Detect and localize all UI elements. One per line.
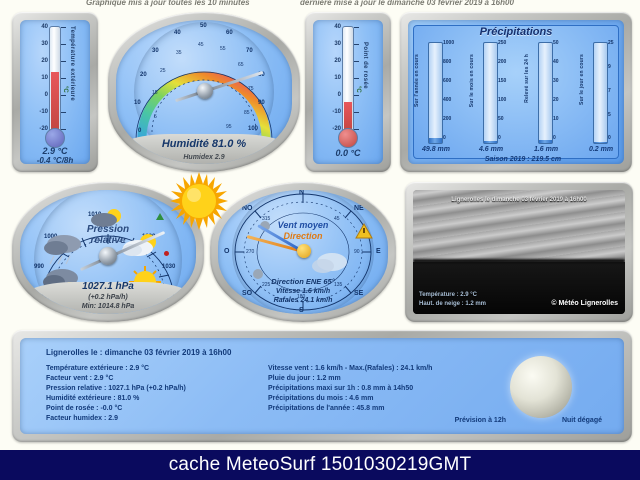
webcam-panel[interactable]: Lignerolles le dimanche 03 février 2019 … [405, 182, 633, 322]
dew-tick-5: -10 [332, 109, 341, 115]
temp-tick-6: -20 [39, 126, 48, 132]
temp-tick-1: 30 [41, 41, 48, 47]
cloud-icon-wind [312, 253, 347, 273]
thermometer-bulb [45, 128, 65, 148]
precip-bar-year-caption: Sur l'année en cours [414, 54, 420, 107]
wind-direction-value: Direction ENE 65° [218, 277, 388, 286]
pressure-min: Min: 1014.8 hPa [20, 303, 196, 310]
temperature-unit-marker: °C [62, 86, 68, 93]
humidity-value: Humidité 81.0 % [116, 138, 292, 150]
temperature-min: -0.4 °C/8h [20, 156, 90, 164]
summary-left-4: Point de rosée : -0.0 °C [46, 405, 122, 412]
temp-tick-0: 40 [41, 24, 48, 30]
precip-bar-day-fill [594, 142, 607, 143]
humidity-humidex: Humidex 2.9 [116, 154, 292, 161]
summary-face: Lignerolles le : dimanche 03 février 201… [20, 338, 624, 434]
thermometer-tube [49, 26, 61, 136]
pressure-value: 1027.1 hPa [20, 281, 196, 292]
dew-tick-1: 30 [334, 41, 341, 47]
precip-bar-month-caption: Sur le mois en cours [469, 54, 475, 107]
forecast-label: Prévision à 12h [455, 417, 506, 424]
warning-triangle-icon [356, 224, 372, 238]
temperature-label: Température extérieure [69, 26, 75, 101]
humidity-hub [197, 83, 213, 99]
dewpoint-unit-marker: °C [355, 86, 361, 93]
pressure-title-2: relative [20, 235, 196, 246]
sun-icon [170, 172, 228, 230]
summary-left-2: Pression relative : 1027.1 hPa (+0.2 hPa… [46, 385, 186, 392]
summary-right-4: Précipitations de l'année : 45.8 mm [268, 405, 384, 412]
precip-year-value: 49.8 mm [412, 146, 460, 153]
precip-bar-24h-fill [539, 140, 552, 143]
precipitation-title: Précipitations [408, 26, 624, 38]
webcam-image: Lignerolles le dimanche 03 février 2019 … [413, 190, 625, 314]
temp-tick-3: 10 [41, 75, 48, 81]
summary-left-3: Humidité extérieure : 81.0 % [46, 395, 139, 402]
dewpoint-face: 40 30 20 10 0 -10 -20 Point de rosée °C … [313, 20, 383, 164]
trend-up-icon [156, 213, 164, 220]
pressure-hub [99, 247, 117, 265]
humidity-face-bg: 0 10 20 30 40 50 60 70 80 90 100 5 15 25… [116, 20, 292, 164]
summary-left-1: Facteur vent : 2.9 °C [46, 375, 113, 382]
dew-tick-4: 0 [338, 92, 341, 98]
temp-tick-5: -10 [39, 109, 48, 115]
forecast-text: Nuit dégagé [562, 417, 602, 424]
wind-gust-value: Rafales 24.1 km/h [218, 297, 388, 304]
temperature-face: 40 30 20 10 0 -10 -20 Température extéri… [20, 20, 90, 164]
precip-bar-month-fill [484, 141, 497, 143]
caption-text: cache MeteoSurf 1501030219GMT [169, 454, 472, 476]
webcam-horizon [413, 259, 625, 263]
summary-left-0: Température extérieure : 2.9 °C [46, 365, 149, 372]
moon-icon [510, 356, 572, 418]
precip-bar-24h-caption: Relevé sur les 24 h [524, 54, 530, 103]
header-left-text: Graphique mis à jour toutes les 10 minut… [86, 0, 250, 7]
pressure-setpoint-marker [164, 251, 169, 256]
precipitation-face: Précipitations Sur l'année en cours 1000… [408, 20, 624, 164]
summary-right-2: Précipitations maxi sur 1h : 0.8 mm à 14… [268, 385, 413, 392]
wind-panel[interactable]: N NE E SE S SO O NO 45 90 135 180 225 27… [210, 182, 396, 322]
wind-speed-value: Vitesse 1.6 km/h [218, 288, 388, 295]
dew-tick-0: 40 [334, 24, 341, 30]
dewpoint-label: Point de rosée [362, 42, 368, 89]
humidity-panel[interactable]: 0 10 20 30 40 50 60 70 80 90 100 5 15 25… [108, 12, 300, 172]
temp-tick-2: 20 [41, 58, 48, 64]
precip-bar-day-caption: Sur le jour en cours [579, 54, 585, 105]
caption-bar: cache MeteoSurf 1501030219GMT [0, 450, 640, 480]
temp-tick-4: 0 [45, 92, 48, 98]
webcam-watermark: © Météo Lignerolles [551, 300, 618, 307]
precip-season-total: Saison 2019 : 219.5 cm [453, 156, 593, 163]
summary-right-0: Vitesse vent : 1.6 km/h - Max.(Rafales) … [268, 365, 432, 372]
temperature-value: 2.9 °C [20, 146, 90, 156]
pressure-trend: (+0.2 hPa/h) [20, 294, 196, 301]
precip-bar-year-fill [429, 138, 442, 143]
wind-face-bg: N NE E SE S SO O NO 45 90 135 180 225 27… [218, 190, 388, 314]
precip-day-value: 0.2 mm [577, 146, 624, 153]
precip-month-value: 4.6 mm [467, 146, 515, 153]
webcam-snow-height: Haut. de neige : 1.2 mm [419, 301, 486, 307]
dewpoint-bulb [338, 128, 358, 148]
webcam-temperature: Température : 2.9 °C [419, 292, 477, 298]
webcam-title: Lignerolles le dimanche 03 février 2019 … [451, 197, 586, 203]
summary-left-5: Facteur humidex : 2.9 [46, 415, 118, 422]
precipitation-panel[interactable]: Précipitations Sur l'année en cours 1000… [400, 12, 632, 172]
thermometer-mercury [51, 72, 59, 135]
summary-right-1: Pluie du jour : 1.2 mm [268, 375, 341, 382]
wind-hub [297, 244, 311, 258]
header-right-text: dernière mise à jour le dimanche 03 févr… [300, 0, 514, 7]
summary-panel[interactable]: Lignerolles le : dimanche 03 février 201… [12, 330, 632, 442]
dew-tick-2: 20 [334, 58, 341, 64]
dewpoint-value: 0.0 °C [313, 148, 383, 158]
precip-24h-value: 1.6 mm [522, 146, 570, 153]
temperature-panel[interactable]: 40 30 20 10 0 -10 -20 Température extéri… [12, 12, 98, 172]
summary-right-3: Précipitations du mois : 4.6 mm [268, 395, 373, 402]
dewpoint-panel[interactable]: 40 30 20 10 0 -10 -20 Point de rosée °C … [305, 12, 391, 172]
summary-heading: Lignerolles le : dimanche 03 février 201… [46, 348, 231, 357]
header-strip: Graphique mis à jour toutes les 10 minut… [0, 0, 640, 10]
dew-tick-3: 10 [334, 75, 341, 81]
dew-tick-6: -20 [332, 126, 341, 132]
dewpoint-tube [342, 26, 354, 136]
